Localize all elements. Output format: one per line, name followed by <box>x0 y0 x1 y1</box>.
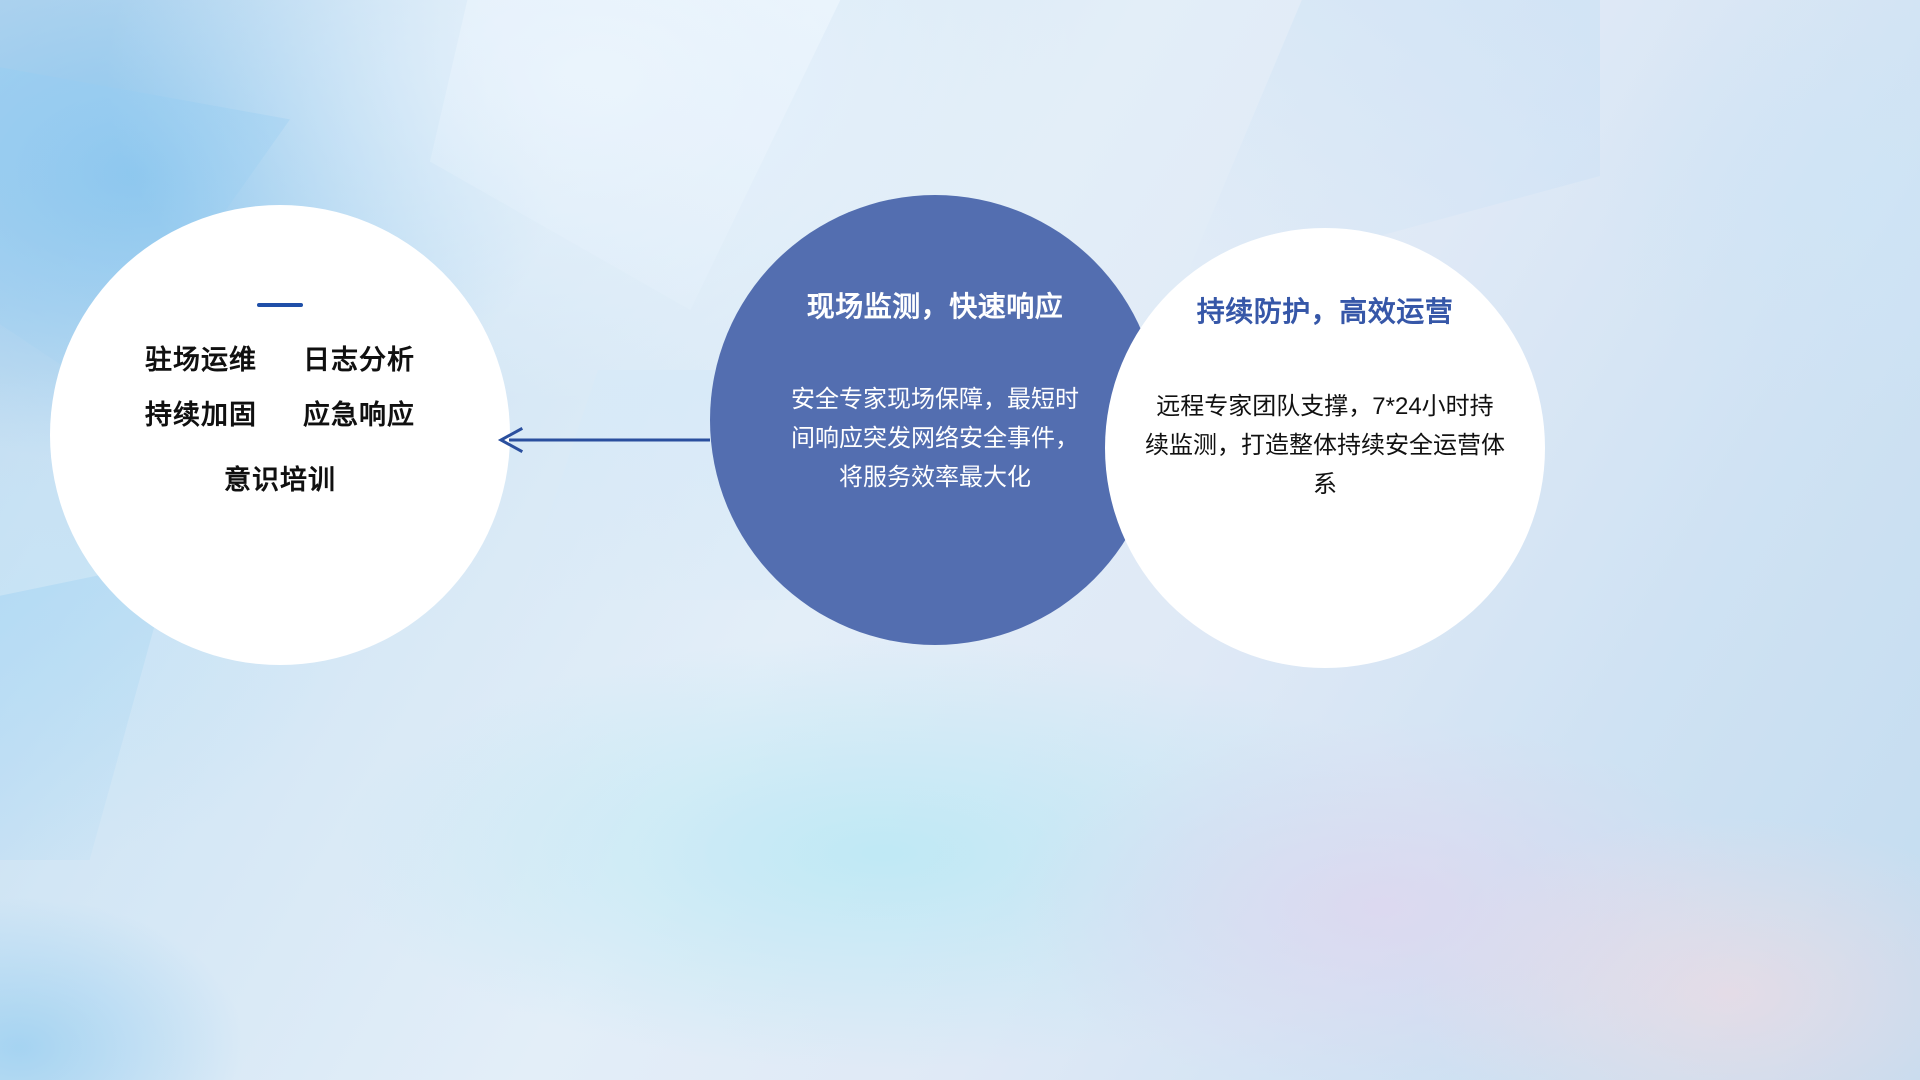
capabilities-circle[interactable]: 驻场运维 日志分析 持续加固 应急响应 意识培训 <box>50 205 510 665</box>
keyword-row-2: 持续加固 应急响应 <box>145 402 415 429</box>
continuous-protection-circle[interactable]: 持续防护，高效运营 远程专家团队支撑，7*24小时持续监测，打造整体持续安全运营… <box>1105 228 1545 668</box>
keyword-awareness-training: 意识培训 <box>224 467 336 494</box>
diagram-stage: 驻场运维 日志分析 持续加固 应急响应 意识培训 现场监测，快速响应 安全专家现… <box>0 0 1920 1080</box>
continuous-body: 远程专家团队支撑，7*24小时持续监测，打造整体持续安全运营体系 <box>1145 388 1505 505</box>
left-pointing-arrow <box>495 418 710 462</box>
keyword-row-1: 驻场运维 日志分析 <box>145 347 415 374</box>
keyword-onsite-ops: 驻场运维 <box>145 347 257 374</box>
onsite-body: 安全专家现场保障，最短时间响应突发网络安全事件，将服务效率最大化 <box>785 381 1085 498</box>
keyword-continuous-hardening: 持续加固 <box>145 402 257 429</box>
divider-line <box>257 303 303 307</box>
keyword-log-analysis: 日志分析 <box>303 347 415 374</box>
continuous-title: 持续防护，高效运营 <box>1197 290 1454 330</box>
onsite-title: 现场监测，快速响应 <box>807 285 1064 325</box>
onsite-monitoring-circle[interactable]: 现场监测，快速响应 安全专家现场保障，最短时间响应突发网络安全事件，将服务效率最… <box>710 195 1160 645</box>
keyword-emergency-response: 应急响应 <box>303 402 415 429</box>
